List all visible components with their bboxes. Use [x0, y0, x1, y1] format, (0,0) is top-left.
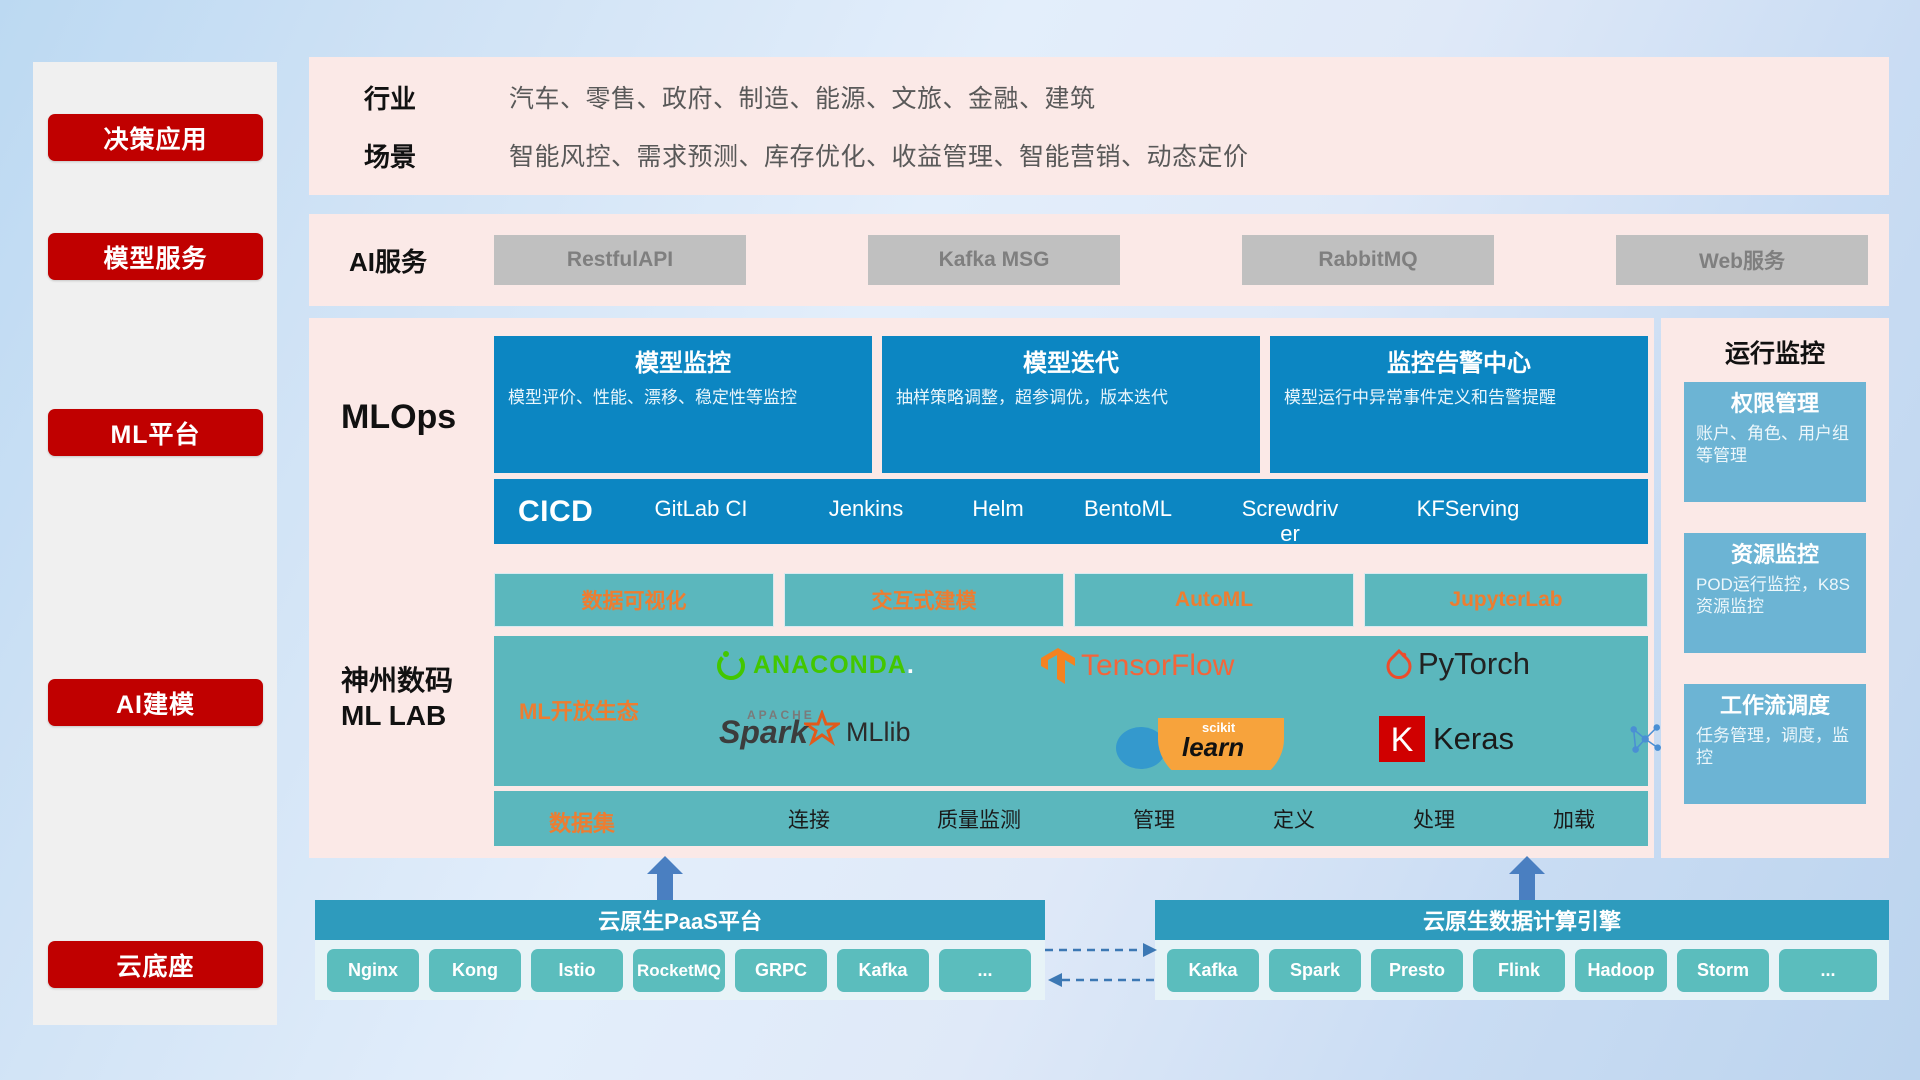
mlops-panel: MLOps 模型监控 模型评价、性能、漂移、稳定性等监控 模型迭代 抽样策略调整…	[309, 318, 1654, 559]
paas-chip-rocketmq[interactable]: RocketMQ	[633, 949, 725, 992]
mllab-chip-interactive-modeling[interactable]: 交互式建模	[784, 573, 1064, 627]
scikit-learn-logo: scikit learn	[1114, 718, 1286, 775]
industry-label: 行业	[364, 79, 416, 116]
paas-chip-more[interactable]: ...	[939, 949, 1031, 992]
engine-chip-storm[interactable]: Storm	[1677, 949, 1769, 992]
engine-chip-flink[interactable]: Flink	[1473, 949, 1565, 992]
mllab-panel: 神州数码 ML LAB 数据可视化 交互式建模 AutoML JupyterLa…	[309, 558, 1654, 858]
tier-chip-ml-platform[interactable]: ML平台	[48, 409, 263, 456]
cicd-item-gitlab-ci[interactable]: GitLab CI	[647, 496, 755, 521]
tensorflow-logo: TensorFlow	[1039, 646, 1234, 686]
mllab-label: 神州数码 ML LAB	[341, 663, 453, 733]
paas-chip-istio[interactable]: Istio	[531, 949, 623, 992]
cicd-item-jenkins[interactable]: Jenkins	[812, 496, 920, 521]
paas-chip-kafka[interactable]: Kafka	[837, 949, 929, 992]
ai-service-panel: AI服务 RestfulAPI Kafka MSG RabbitMQ Web服务	[309, 214, 1889, 306]
dataset-item-load[interactable]: 加载	[1504, 791, 1644, 846]
card-desc: 抽样策略调整，超参调优，版本迭代	[896, 387, 1246, 410]
mllab-chip-data-visualization[interactable]: 数据可视化	[494, 573, 774, 627]
monitor-card-workflow[interactable]: 工作流调度 任务管理，调度，监控	[1684, 684, 1866, 804]
dataset-label: 数据集	[549, 806, 615, 838]
card-title: 监控告警中心	[1284, 349, 1634, 379]
diagram-canvas: 决策应用 模型服务 ML平台 AI建模 云底座 行业 汽车、零售、政府、制造、能…	[0, 0, 1920, 1080]
monitor-card-resource[interactable]: 资源监控 POD运行监控，K8S资源监控	[1684, 533, 1866, 653]
ai-service-chip-kafka-msg[interactable]: Kafka MSG	[868, 235, 1120, 285]
dataset-item-quality[interactable]: 质量监测	[894, 791, 1064, 846]
card-desc: 账户、角色、用户组等管理	[1696, 423, 1854, 467]
cloud-data-engine-title: 云原生数据计算引擎	[1155, 900, 1889, 940]
cicd-bar: CICD GitLab CI Jenkins Helm BentoML Scre…	[494, 479, 1648, 544]
mlops-card-alert-center[interactable]: 监控告警中心 模型运行中异常事件定义和告警提醒	[1270, 336, 1648, 473]
tier-chip-ai-modeling[interactable]: AI建模	[48, 679, 263, 726]
svg-text:K: K	[1391, 721, 1414, 759]
dataset-item-connect[interactable]: 连接	[739, 791, 879, 846]
dataset-item-manage[interactable]: 管理	[1084, 791, 1224, 846]
card-desc: 模型运行中异常事件定义和告警提醒	[1284, 387, 1634, 410]
mllab-label-line2: ML LAB	[341, 698, 446, 733]
card-title: 资源监控	[1696, 542, 1854, 568]
mllab-label-line1: 神州数码	[341, 663, 453, 698]
dataset-item-process[interactable]: 处理	[1364, 791, 1504, 846]
paas-chip-grpc[interactable]: GRPC	[735, 949, 827, 992]
tier-chip-decision-app[interactable]: 决策应用	[48, 114, 263, 161]
card-title: 模型迭代	[896, 349, 1246, 379]
mlops-label: MLOps	[341, 398, 456, 437]
runtime-monitor-panel: 运行监控 权限管理 账户、角色、用户组等管理 资源监控 POD运行监控，K8S资…	[1661, 318, 1889, 858]
cicd-item-helm[interactable]: Helm	[944, 496, 1052, 521]
spark-mllib-logo: APACHE Spark MLlib	[719, 714, 910, 751]
cicd-item-screwdriver[interactable]: Screwdriver	[1236, 496, 1344, 547]
dashed-connector-left	[1045, 970, 1160, 1040]
ai-service-chip-web-service[interactable]: Web服务	[1616, 235, 1868, 285]
tier-rail	[33, 62, 277, 1025]
cicd-item-kfserving[interactable]: KFServing	[1414, 496, 1522, 521]
ml-ecosystem-label: ML开放生态	[519, 694, 639, 726]
pytorch-logo: PyTorch	[1384, 646, 1530, 682]
cicd-title: CICD	[518, 495, 593, 529]
ai-service-label: AI服务	[349, 214, 427, 306]
up-arrow-data-engine	[1507, 856, 1547, 900]
runtime-monitor-title: 运行监控	[1661, 334, 1889, 370]
cloud-paas-title: 云原生PaaS平台	[315, 900, 1045, 940]
industry-scenario-panel: 行业 汽车、零售、政府、制造、能源、文旅、金融、建筑 场景 智能风控、需求预测、…	[309, 57, 1889, 195]
engine-chip-presto[interactable]: Presto	[1371, 949, 1463, 992]
scenario-label: 场景	[364, 137, 416, 174]
card-desc: 模型评价、性能、漂移、稳定性等监控	[508, 387, 858, 410]
mlops-card-model-iteration[interactable]: 模型迭代 抽样策略调整，超参调优，版本迭代	[882, 336, 1260, 473]
card-desc: 任务管理，调度，监控	[1696, 725, 1854, 769]
anaconda-logo: ANACONDA .	[714, 648, 914, 682]
dataset-item-define[interactable]: 定义	[1224, 791, 1364, 846]
keras-logo: K Keras	[1379, 716, 1514, 762]
mllab-chip-automl[interactable]: AutoML	[1074, 573, 1354, 627]
scenario-values: 智能风控、需求预测、库存优化、收益管理、智能营销、动态定价	[509, 137, 1249, 173]
paas-chip-nginx[interactable]: Nginx	[327, 949, 419, 992]
engine-chip-more[interactable]: ...	[1779, 949, 1877, 992]
ml-ecosystem-band: ML开放生态 ANACONDA . TensorFlow	[494, 636, 1648, 786]
cloud-paas-group: 云原生PaaS平台 Nginx Kong Istio RocketMQ GRPC…	[315, 900, 1045, 1000]
card-title: 模型监控	[508, 349, 858, 379]
monitor-card-permission[interactable]: 权限管理 账户、角色、用户组等管理	[1684, 382, 1866, 502]
card-title: 工作流调度	[1696, 693, 1854, 719]
card-title: 权限管理	[1696, 391, 1854, 417]
cicd-item-bentoml[interactable]: BentoML	[1074, 496, 1182, 521]
ai-service-chip-restfulapi[interactable]: RestfulAPI	[494, 235, 746, 285]
dataset-row: 数据集 连接 质量监测 管理 定义 处理 加载	[494, 791, 1648, 846]
engine-chip-spark[interactable]: Spark	[1269, 949, 1361, 992]
up-arrow-paas	[645, 856, 685, 900]
cloud-data-engine-group: 云原生数据计算引擎 Kafka Spark Presto Flink Hadoo…	[1155, 900, 1889, 1000]
ai-service-chip-rabbitmq[interactable]: RabbitMQ	[1242, 235, 1494, 285]
paas-chip-kong[interactable]: Kong	[429, 949, 521, 992]
mlops-card-model-monitoring[interactable]: 模型监控 模型评价、性能、漂移、稳定性等监控	[494, 336, 872, 473]
industry-values: 汽车、零售、政府、制造、能源、文旅、金融、建筑	[509, 79, 1096, 115]
tier-chip-model-service[interactable]: 模型服务	[48, 233, 263, 280]
card-desc: POD运行监控，K8S资源监控	[1696, 574, 1854, 618]
engine-chip-kafka[interactable]: Kafka	[1167, 949, 1259, 992]
tier-chip-cloud-base[interactable]: 云底座	[48, 941, 263, 988]
engine-chip-hadoop[interactable]: Hadoop	[1575, 949, 1667, 992]
mllab-chip-jupyterlab[interactable]: JupyterLab	[1364, 573, 1648, 627]
